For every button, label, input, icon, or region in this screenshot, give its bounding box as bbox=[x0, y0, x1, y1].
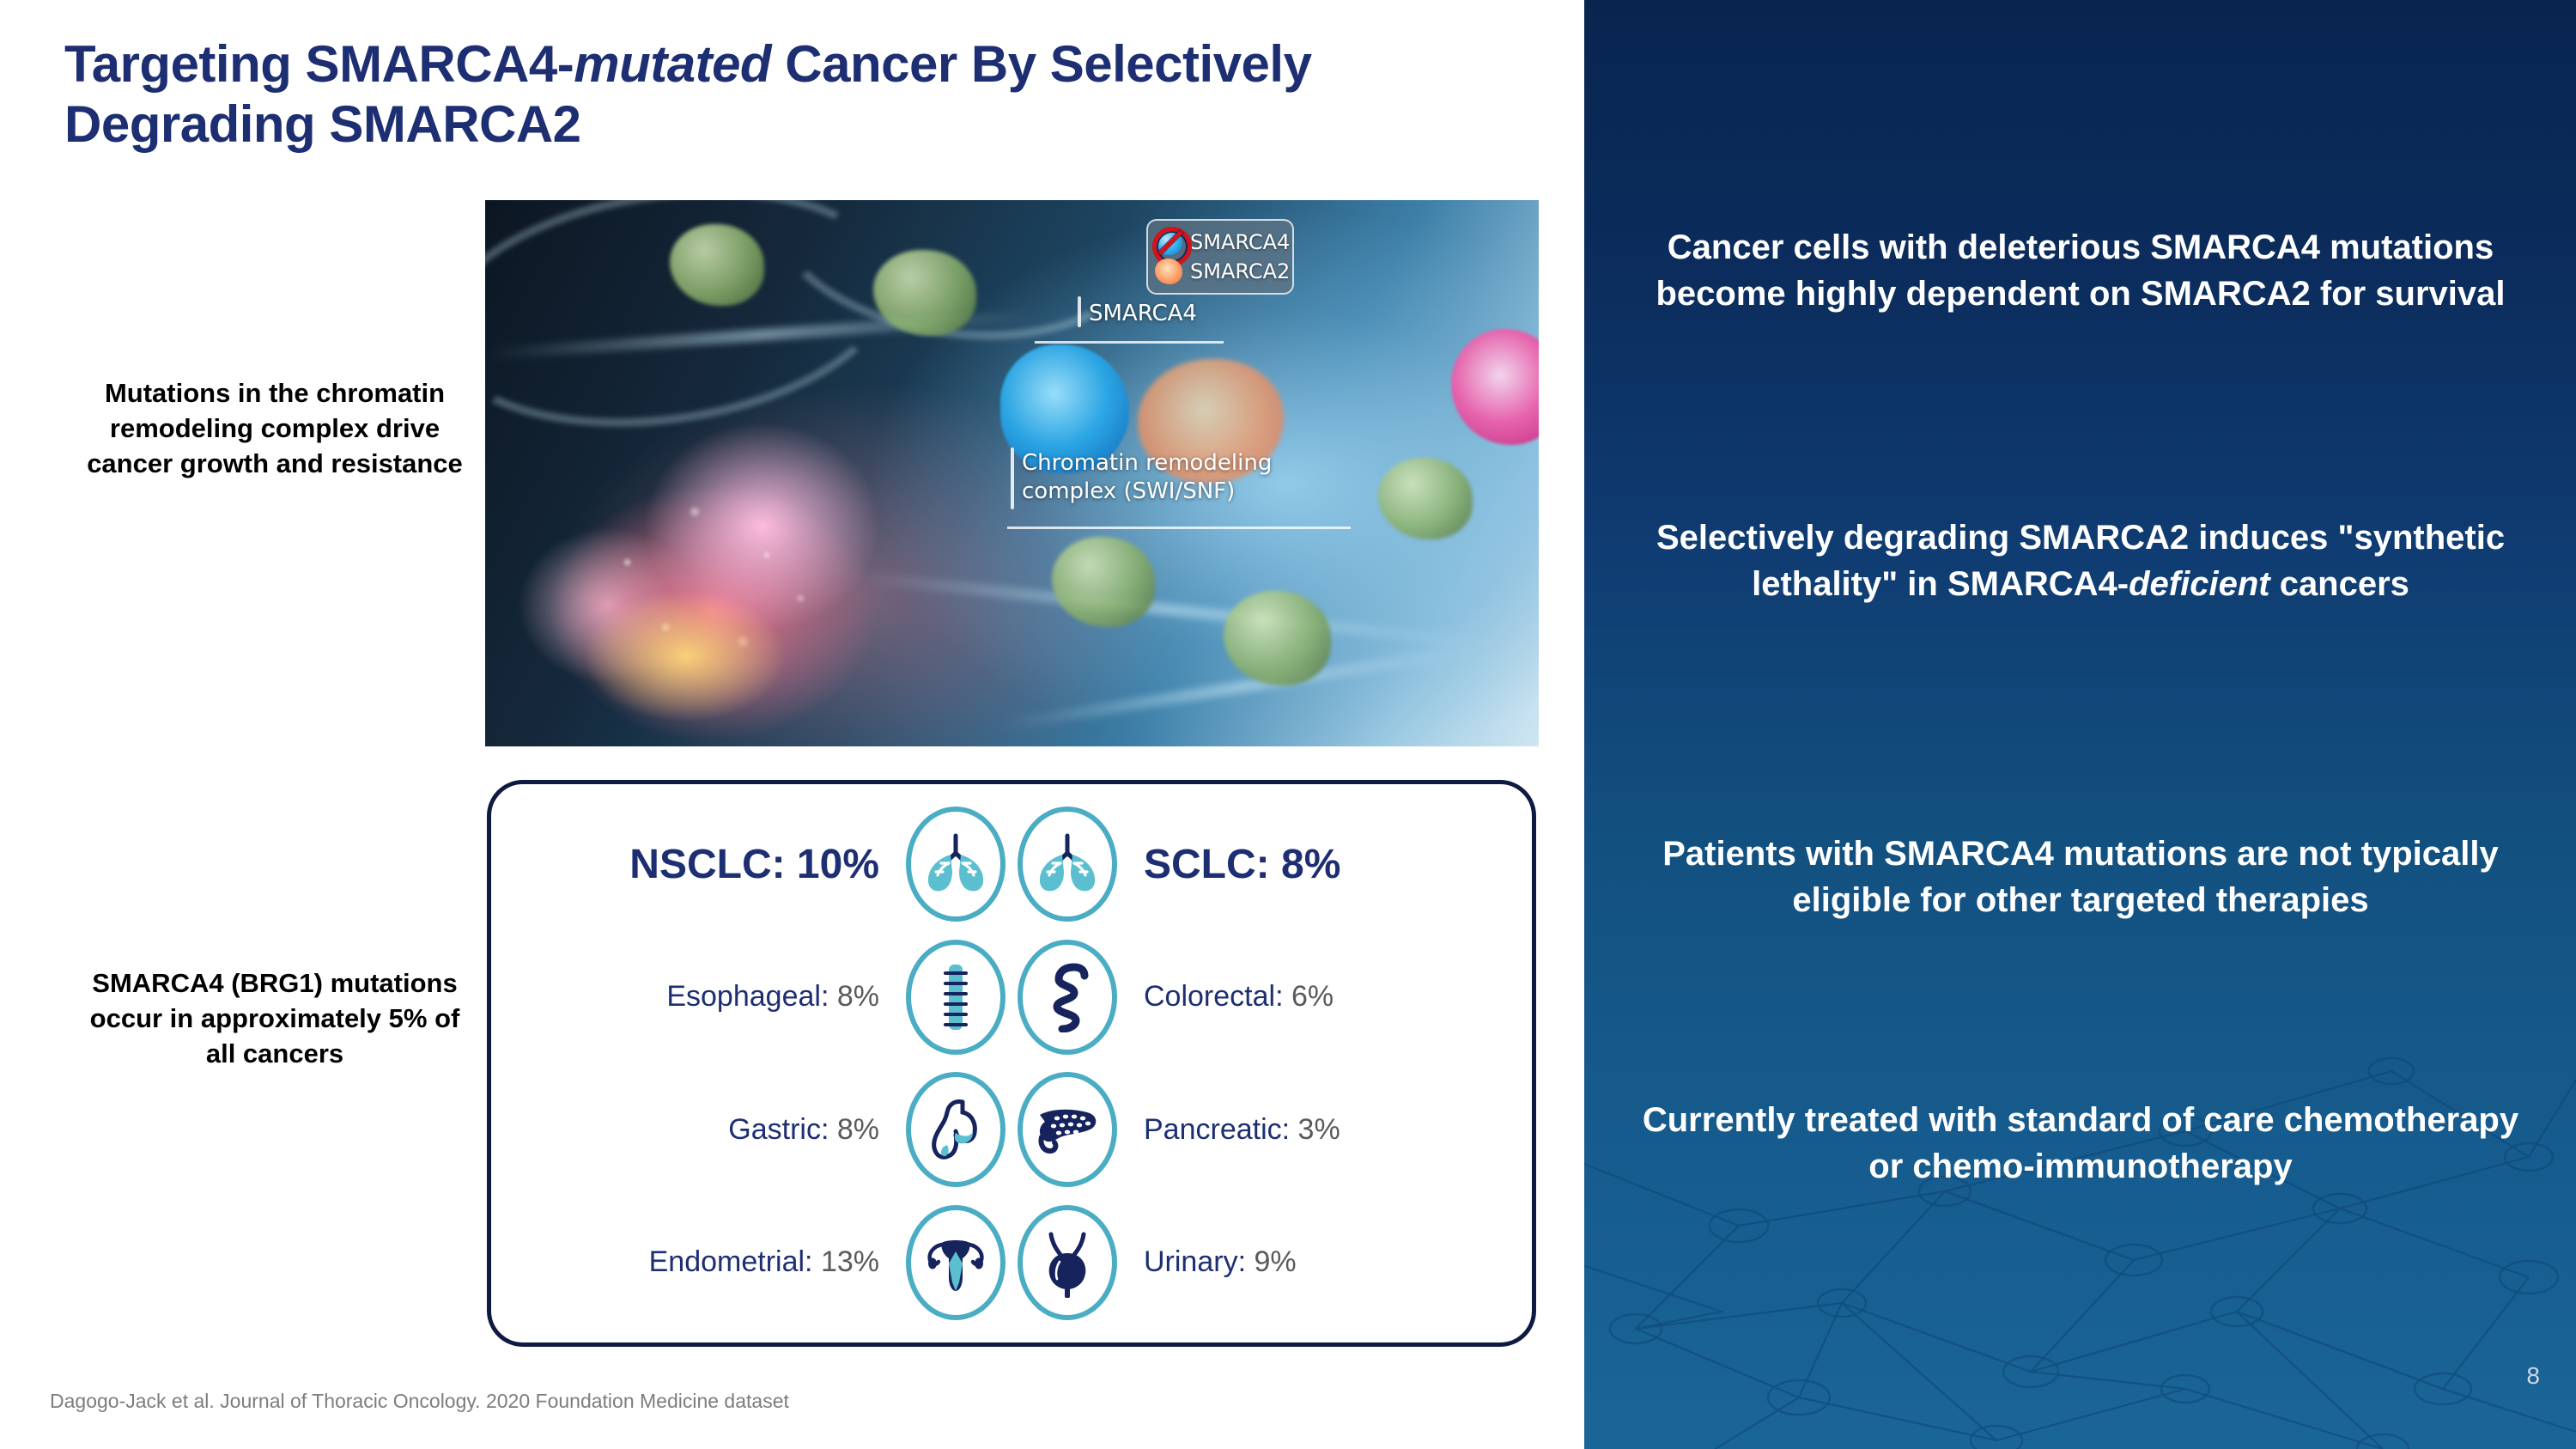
cancer-pct-colorectal: 6% bbox=[1291, 980, 1334, 1013]
callout-underline bbox=[1035, 341, 1224, 344]
nucleosome-icon bbox=[1378, 458, 1473, 539]
cancer-name-urinary: Urinary bbox=[1144, 1245, 1238, 1278]
right-blue-panel: Cancer cells with deleterious SMARCA4 mu… bbox=[1584, 0, 2576, 1449]
uterus-icon bbox=[906, 1205, 1005, 1320]
cancer-pct-pancreatic: 3% bbox=[1298, 1113, 1340, 1146]
cancer-label-esophageal: Esophageal: 8% bbox=[510, 980, 900, 1014]
page-title: Targeting SMARCA4-mutated Cancer By Sele… bbox=[64, 34, 1524, 155]
callout-tick bbox=[1011, 447, 1014, 509]
cancer-label-endometrial: Endometrial: 13% bbox=[510, 1245, 900, 1279]
cancer-pct-sclc: 8% bbox=[1281, 842, 1340, 887]
cancer-name-esophageal: Esophageal bbox=[666, 980, 821, 1013]
title-text-1: Targeting SMARCA4- bbox=[64, 35, 574, 93]
cancer-type-frequency-box: NSCLC: 10% bbox=[487, 780, 1536, 1347]
callout-underline bbox=[1007, 527, 1351, 529]
source-citation: Dagogo-Jack et al. Journal of Thoracic O… bbox=[50, 1390, 789, 1413]
callout-smarca4-label: SMARCA4 bbox=[1089, 300, 1197, 328]
page-number: 8 bbox=[2526, 1362, 2540, 1390]
pancreas-icon bbox=[1018, 1072, 1117, 1187]
legend-label-smarca4: SMARCA4 bbox=[1190, 230, 1290, 254]
cancer-name-sclc: SCLC bbox=[1144, 842, 1256, 887]
stomach-icon bbox=[906, 1072, 1005, 1187]
molecular-illustration: SMARCA4 Chromatin remodeling complex (SW… bbox=[485, 200, 1539, 746]
panel-statement-1: Cancer cells with deleterious SMARCA4 mu… bbox=[1634, 225, 2527, 317]
panel-statement-2-text-2: cancers bbox=[2270, 565, 2409, 603]
legend-row-smarca4: SMARCA4 bbox=[1155, 229, 1284, 255]
intestine-icon bbox=[1018, 940, 1117, 1055]
cancer-pct-endometrial: 13% bbox=[821, 1245, 879, 1278]
panel-statement-2-italic: deficient bbox=[2129, 565, 2269, 603]
lungs-icon bbox=[1018, 807, 1117, 922]
callout-chromatin-label: Chromatin remodeling complex (SWI/SNF) bbox=[1022, 449, 1272, 505]
legend-row-smarca2: SMARCA2 bbox=[1155, 259, 1284, 284]
table-row: Esophageal: 8% Colorectal: 6% bbox=[491, 932, 1532, 1062]
table-row: Endometrial: 13% bbox=[491, 1197, 1532, 1328]
figure-legend: SMARCA4 SMARCA2 bbox=[1146, 219, 1294, 295]
cancer-label-nsclc: NSCLC: 10% bbox=[510, 841, 900, 888]
table-row: NSCLC: 10% bbox=[491, 799, 1532, 929]
cancer-name-gastric: Gastric bbox=[728, 1113, 821, 1146]
cancer-label-pancreatic: Pancreatic: 3% bbox=[1123, 1113, 1513, 1147]
cancer-label-colorectal: Colorectal: 6% bbox=[1123, 980, 1513, 1014]
smarca2-swatch-icon bbox=[1155, 259, 1182, 284]
esophagus-icon bbox=[906, 940, 1005, 1055]
protein-blob-icon bbox=[1451, 329, 1539, 445]
cancer-name-colorectal: Colorectal bbox=[1144, 980, 1275, 1013]
cancer-label-gastric: Gastric: 8% bbox=[510, 1113, 900, 1147]
nucleosome-icon bbox=[1224, 591, 1331, 685]
cancer-label-sclc: SCLC: 8% bbox=[1123, 841, 1513, 888]
cancer-name-endometrial: Endometrial bbox=[649, 1245, 805, 1278]
title-text-italic: mutated bbox=[574, 35, 771, 93]
bladder-icon bbox=[1018, 1205, 1117, 1320]
panel-statement-3: Patients with SMARCA4 mutations are not … bbox=[1634, 831, 2527, 923]
left-content-region: Targeting SMARCA4-mutated Cancer By Sele… bbox=[0, 0, 1584, 1449]
smarca4-swatch-icon bbox=[1155, 229, 1182, 255]
callout-tick bbox=[1078, 296, 1081, 327]
table-row: Gastric: 8% bbox=[491, 1064, 1532, 1195]
cancer-pct-esophageal: 8% bbox=[837, 980, 879, 1013]
panel-statement-2: Selectively degrading SMARCA2 induces "s… bbox=[1634, 515, 2527, 607]
callout-chromatin-line1: Chromatin remodeling bbox=[1022, 449, 1272, 478]
nucleosome-icon bbox=[1052, 537, 1155, 627]
caption-smarca4-frequency: SMARCA4 (BRG1) mutations occur in approx… bbox=[82, 966, 468, 1072]
panel-statement-4: Currently treated with standard of care … bbox=[1634, 1098, 2527, 1190]
cancer-name-pancreatic: Pancreatic bbox=[1144, 1113, 1282, 1146]
swi-snf-complex-icon bbox=[502, 389, 983, 746]
cancer-pct-urinary: 9% bbox=[1254, 1245, 1296, 1278]
caption-chromatin-remodeling: Mutations in the chromatin remodeling co… bbox=[82, 376, 468, 482]
cancer-pct-gastric: 8% bbox=[837, 1113, 879, 1146]
legend-label-smarca2: SMARCA2 bbox=[1190, 259, 1290, 283]
network-pattern-graphic bbox=[1584, 710, 2576, 1449]
lungs-icon bbox=[906, 807, 1005, 922]
callout-chromatin-line2: complex (SWI/SNF) bbox=[1022, 478, 1272, 506]
cancer-label-urinary: Urinary: 9% bbox=[1123, 1245, 1513, 1279]
